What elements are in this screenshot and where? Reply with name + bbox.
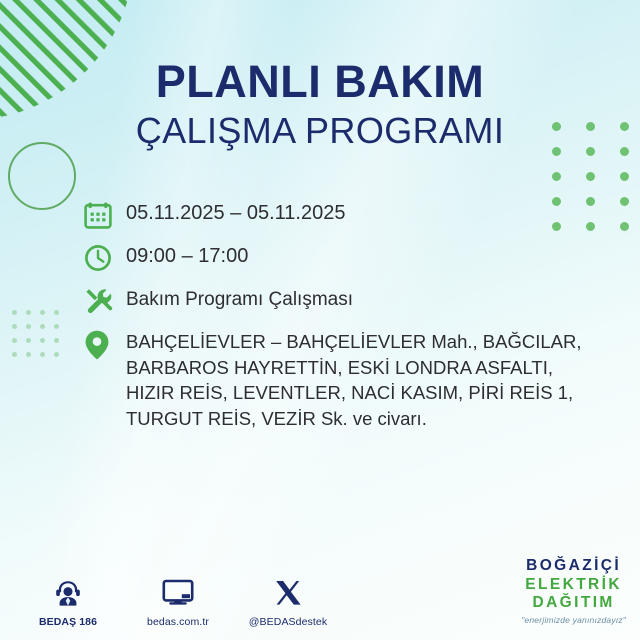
- title-block: PLANLI BAKIM ÇALIŞMA PROGRAMI: [0, 58, 640, 151]
- tools-icon: [84, 286, 126, 315]
- x-social-icon: [246, 575, 330, 611]
- info-row-work-type: Bakım Programı Çalışması: [84, 286, 610, 315]
- info-row-time: 09:00 – 17:00: [84, 243, 610, 272]
- headset-support-icon: [26, 575, 110, 611]
- contact-phone-label: BEDAŞ 186: [26, 616, 110, 628]
- location-text: BAHÇELİEVLER – BAHÇELİEVLER Mah., BAĞCIL…: [126, 329, 594, 431]
- company-logo: BOĞAZİÇİ ELEKTRİK DAĞITIM "enerjimizde y…: [521, 558, 626, 624]
- contact-website-label: bedas.com.tr: [136, 616, 220, 628]
- date-range-text: 05.11.2025 – 05.11.2025: [126, 200, 345, 227]
- contact-list: BEDAŞ 186 bedas.com.tr: [26, 575, 330, 628]
- footer: BEDAŞ 186 bedas.com.tr: [0, 548, 640, 640]
- contact-x-social[interactable]: @BEDASdestek: [246, 575, 330, 628]
- contact-x-label: @BEDASdestek: [246, 616, 330, 628]
- brand-line-dagitim: DAĞITIM: [521, 595, 626, 611]
- contact-website[interactable]: bedas.com.tr: [136, 575, 220, 628]
- brand-line-bogazici: BOĞAZİÇİ: [521, 558, 626, 574]
- brand-tagline: "enerjimizde yanınızdayız": [521, 616, 626, 625]
- page-subtitle: ÇALIŞMA PROGRAMI: [0, 111, 640, 151]
- calendar-icon: [84, 200, 126, 229]
- time-range-text: 09:00 – 17:00: [126, 243, 248, 270]
- info-row-location: BAHÇELİEVLER – BAHÇELİEVLER Mah., BAĞCIL…: [84, 329, 610, 431]
- page-title: PLANLI BAKIM: [0, 58, 640, 105]
- contact-phone[interactable]: BEDAŞ 186: [26, 575, 110, 628]
- work-type-text: Bakım Programı Çalışması: [126, 286, 353, 313]
- brand-line-elektrik: ELEKTRİK: [521, 577, 626, 593]
- clock-icon: [84, 243, 126, 272]
- info-row-date: 05.11.2025 – 05.11.2025: [84, 200, 610, 229]
- circle-outline-decoration: [8, 142, 76, 210]
- info-rows: 05.11.2025 – 05.11.2025 09:00 – 17:00: [84, 200, 610, 445]
- location-pin-icon: [84, 329, 126, 360]
- dot-grid-left-decoration: [12, 310, 68, 366]
- poster-canvas: PLANLI BAKIM ÇALIŞMA PROGRAMI 05.11.2025…: [0, 0, 640, 640]
- monitor-icon: [136, 575, 220, 611]
